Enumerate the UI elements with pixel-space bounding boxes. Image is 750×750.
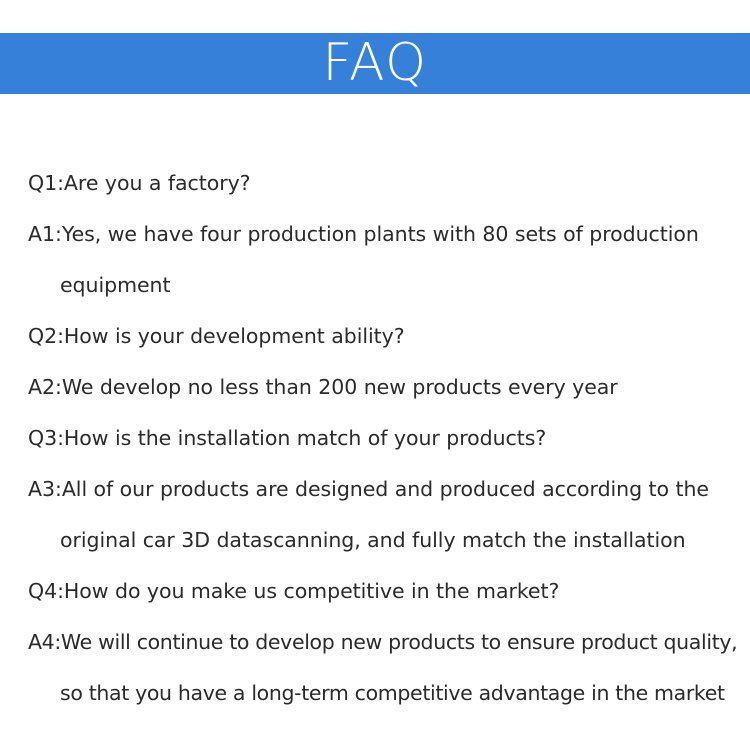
faq-answer-3-line-1: A3:All of our products are designed and … <box>0 464 750 515</box>
faq-answer-3-line-2: original car 3D datascanning, and fully … <box>0 515 750 566</box>
faq-question-3: Q3:How is the installation match of your… <box>0 413 750 464</box>
faq-answer-4-line-2: so that you have a long-term competitive… <box>0 668 750 719</box>
page-title: FAQ <box>322 37 427 89</box>
faq-page: FAQ Q1:Are you a factory? A1:Yes, we hav… <box>0 0 750 750</box>
faq-answer-2-line-1: A2:We develop no less than 200 new produ… <box>0 362 750 413</box>
faq-content-list: Q1:Are you a factory? A1:Yes, we have fo… <box>0 158 750 719</box>
faq-question-4: Q4:How do you make us competitive in the… <box>0 566 750 617</box>
faq-answer-1-line-1: A1:Yes, we have four production plants w… <box>0 209 750 260</box>
faq-answer-1-line-2: equipment <box>0 260 750 311</box>
faq-question-2: Q2:How is your development ability? <box>0 311 750 362</box>
faq-header-banner: FAQ <box>0 33 750 94</box>
faq-question-1: Q1:Are you a factory? <box>0 158 750 209</box>
faq-answer-4-line-1: A4:We will continue to develop new produ… <box>0 617 750 668</box>
